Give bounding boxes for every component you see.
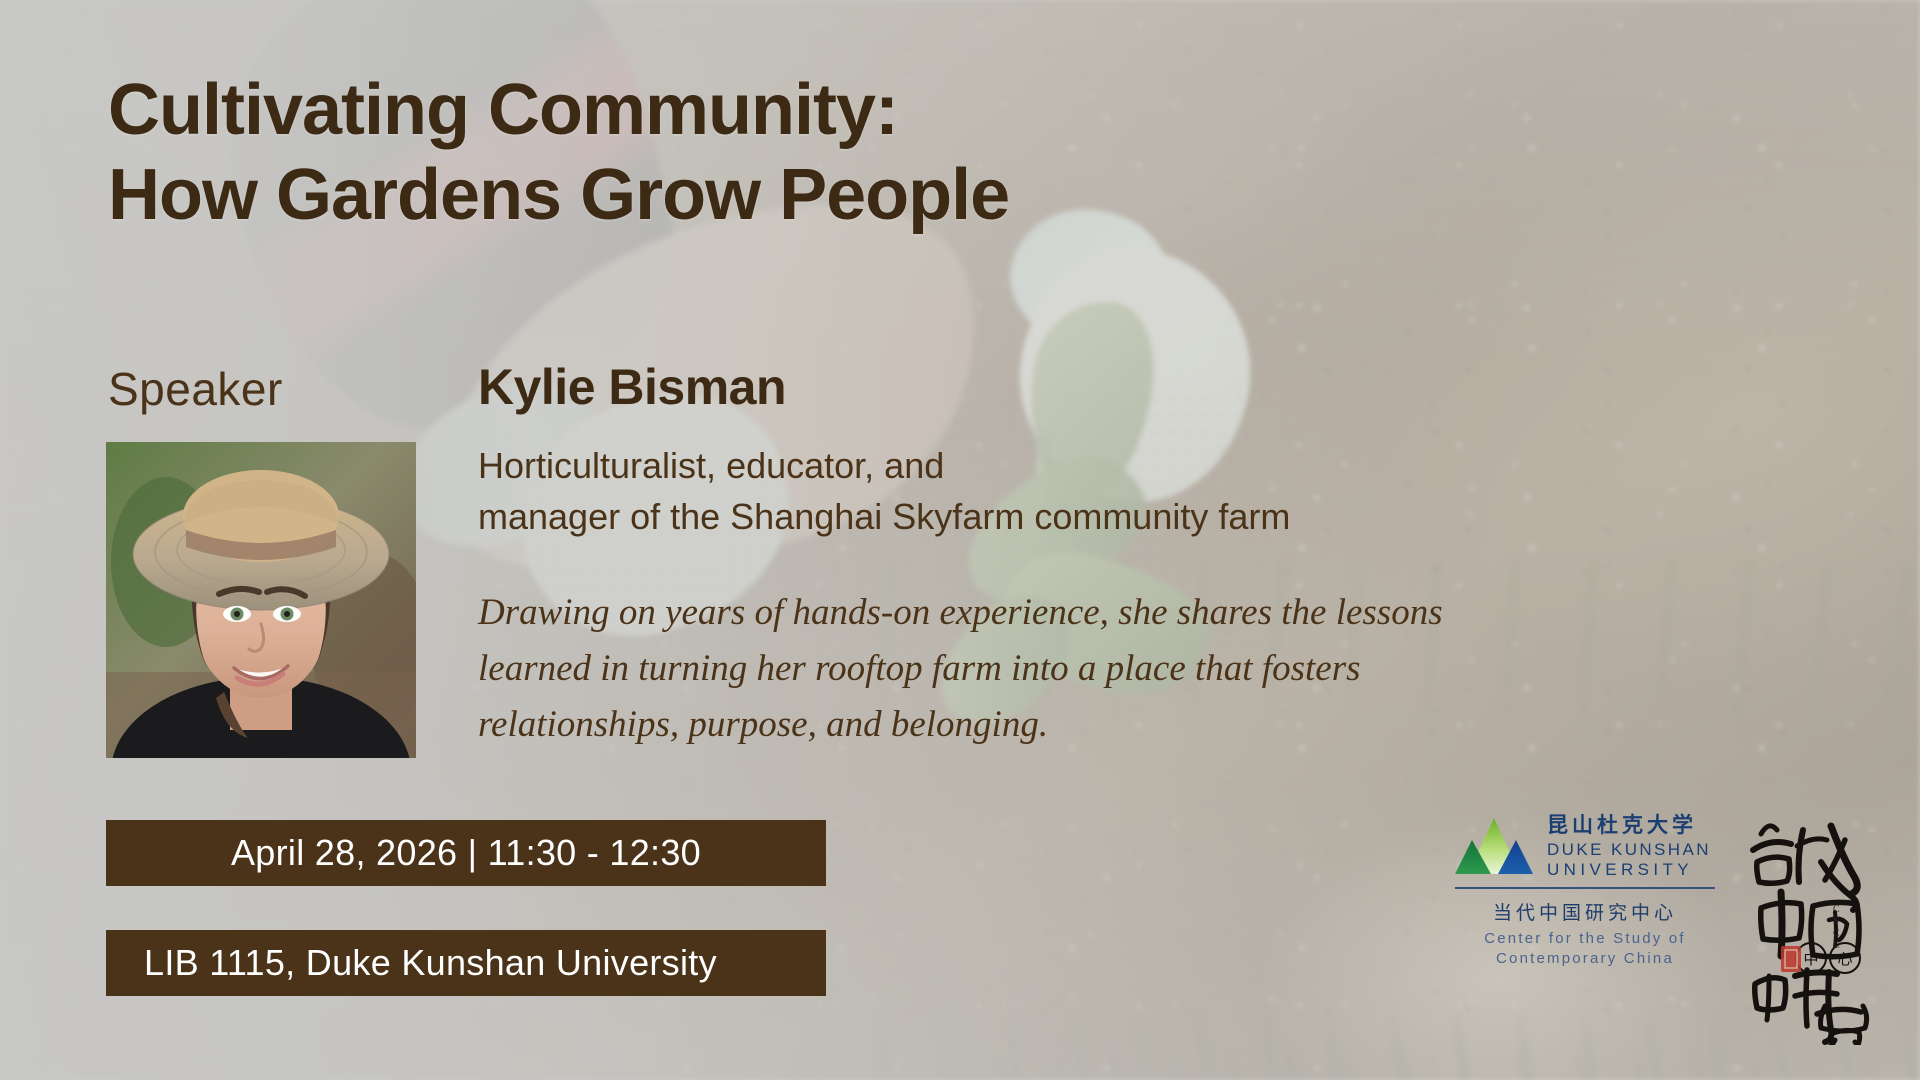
svg-text:中: 中 — [1803, 950, 1818, 968]
speaker-headshot — [106, 442, 416, 758]
poster-content: Cultivating Community: How Gardens Grow … — [0, 0, 1920, 1080]
svg-text:心: 心 — [1837, 950, 1852, 968]
cscc-english-line-2: Contemporary China — [1455, 949, 1715, 969]
cscc-english-line-1: Center for the Study of — [1455, 929, 1715, 949]
svg-text:S: S — [1833, 916, 1840, 927]
title-line-2: How Gardens Grow People — [108, 153, 1528, 238]
speaker-role: Horticulturalist, educator, and manager … — [478, 440, 1598, 542]
cscc-chinese-name: 当代中国研究中心 — [1455, 898, 1715, 925]
speaker-role-line-2: manager of the Shanghai Skyfarm communit… — [478, 491, 1598, 542]
svg-text:C: C — [1833, 940, 1841, 951]
event-poster: Cultivating Community: How Gardens Grow … — [0, 0, 1920, 1080]
cscc-logo: 当代中国研究中心 Center for the Study of Contemp… — [1455, 898, 1715, 970]
dku-english-line-2: UNIVERSITY — [1547, 861, 1711, 878]
event-location-text: LIB 1115, Duke Kunshan University — [144, 942, 717, 984]
event-date-text: April 28, 2026 | 11:30 - 12:30 — [231, 832, 701, 874]
cscc-english-name: Center for the Study of Contemporary Chi… — [1455, 929, 1715, 970]
speaker-description-quote: Drawing on years of hands-on experience,… — [478, 585, 1898, 754]
quote-line-3: relationships, purpose, and belonging. — [478, 697, 1898, 753]
cscc-calligraphy-seal: 中 心 C S C C — [1735, 800, 1905, 1045]
logo-divider — [1455, 887, 1715, 889]
svg-text:C: C — [1833, 928, 1841, 939]
institution-logos: 昆山杜克大学 DUKE KUNSHAN UNIVERSITY 当代中国研究中心 … — [1455, 815, 1715, 969]
title-line-1: Cultivating Community: — [108, 68, 1528, 153]
dku-wordmark: 昆山杜克大学 DUKE KUNSHAN UNIVERSITY — [1547, 815, 1711, 878]
speaker-label: Speaker — [108, 362, 283, 416]
event-location-banner: LIB 1115, Duke Kunshan University — [106, 930, 826, 996]
quote-line-1: Drawing on years of hands-on experience,… — [478, 585, 1898, 641]
svg-text:C: C — [1833, 904, 1841, 915]
speaker-name: Kylie Bisman — [478, 358, 786, 416]
dku-english-line-1: DUKE KUNSHAN — [1547, 841, 1711, 858]
speaker-role-line-1: Horticulturalist, educator, and — [478, 440, 1598, 491]
dku-mountain-icon — [1455, 816, 1533, 878]
quote-line-2: learned in turning her rooftop farm into… — [478, 641, 1898, 697]
duke-kunshan-logo: 昆山杜克大学 DUKE KUNSHAN UNIVERSITY — [1455, 815, 1715, 878]
event-date-banner: April 28, 2026 | 11:30 - 12:30 — [106, 820, 826, 886]
dku-chinese-name: 昆山杜克大学 — [1547, 815, 1711, 836]
page-title: Cultivating Community: How Gardens Grow … — [108, 68, 1528, 238]
